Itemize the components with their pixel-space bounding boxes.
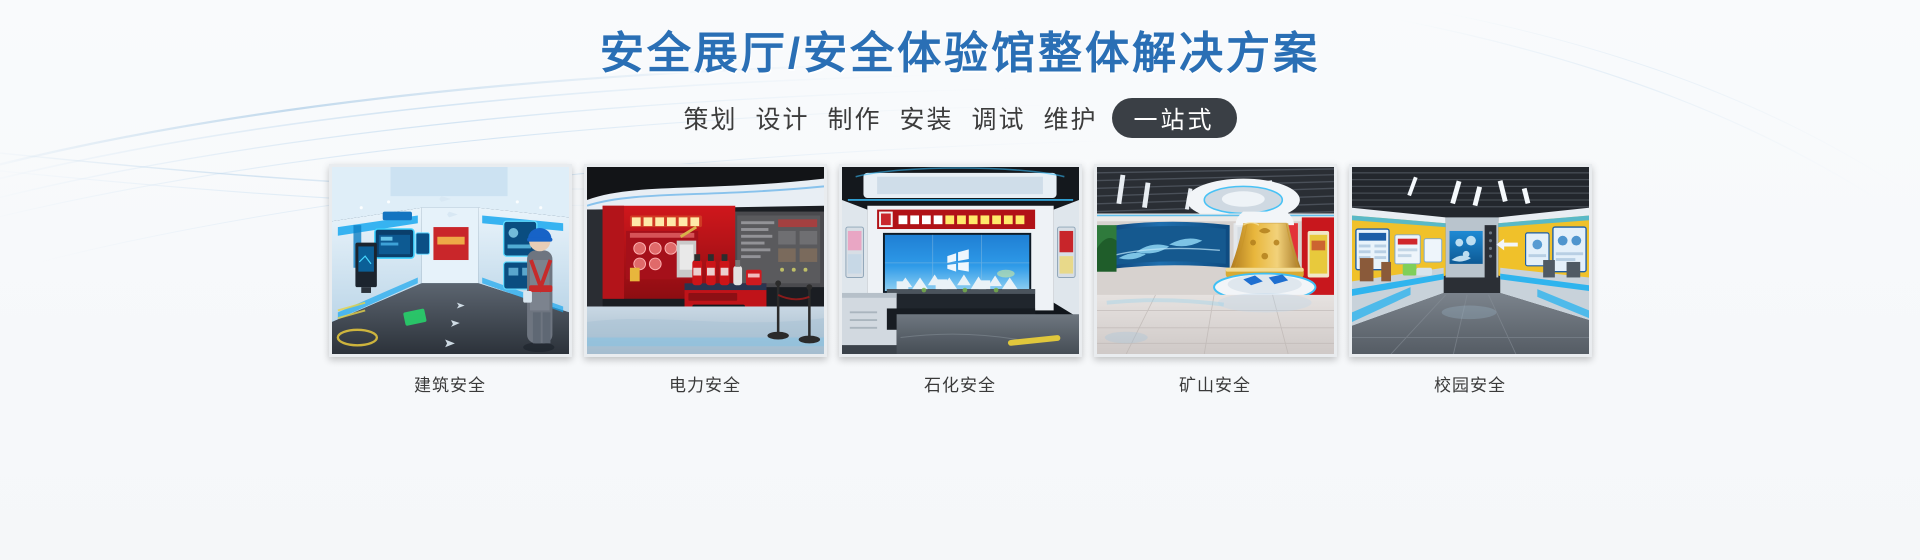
scene-card[interactable]: 校园安全	[1347, 164, 1594, 396]
page-title: 安全展厅/安全体验馆整体解决方案	[600, 28, 1320, 80]
one-stop-badge: 一站式	[1112, 98, 1237, 138]
campus-safety-corridor-yellow-walls-image	[1352, 167, 1589, 354]
fire-emergency-equipment-red-exhibit-image	[587, 167, 824, 354]
scene-card-caption: 矿山安全	[1179, 371, 1251, 396]
scene-card[interactable]: 电力安全	[582, 164, 829, 396]
service-steps-list: 策划 设计 制作 安装 调试 维护	[683, 100, 1097, 136]
scene-card-caption: 石化安全	[924, 371, 996, 396]
mining-safety-hall-golden-bell-image	[1097, 167, 1334, 354]
scene-card[interactable]: 建筑安全	[327, 164, 574, 396]
scene-thumbnail-campus[interactable]	[1349, 164, 1592, 357]
petrochemical-training-base-video-wall-image	[842, 167, 1079, 354]
service-steps-row: 策划 设计 制作 安装 调试 维护 一站式	[683, 98, 1236, 138]
scene-card-caption: 电力安全	[669, 371, 741, 396]
service-step-4: 安装	[900, 100, 954, 136]
scene-card[interactable]: 矿山安全	[1092, 164, 1339, 396]
scene-card-caption: 校园安全	[1434, 371, 1506, 396]
construction-safety-exhibition-corridor-image	[332, 167, 569, 354]
service-step-3: 制作	[827, 100, 881, 136]
promo-banner: 安全展厅/安全体验馆整体解决方案 策划 设计 制作 安装 调试 维护 一站式	[0, 0, 1920, 560]
service-step-5: 调试	[972, 100, 1026, 136]
scene-thumbnail-power[interactable]	[584, 164, 827, 357]
service-step-1: 策划	[683, 100, 737, 136]
scene-thumbnail-petrochemical[interactable]	[839, 164, 1082, 357]
scene-card[interactable]: 石化安全	[837, 164, 1084, 396]
banner-content: 安全展厅/安全体验馆整体解决方案 策划 设计 制作 安装 调试 维护 一站式	[0, 0, 1920, 560]
scene-thumbnail-mining[interactable]	[1094, 164, 1337, 357]
service-step-2: 设计	[755, 100, 809, 136]
scene-card-caption: 建筑安全	[414, 371, 486, 396]
scene-thumbnail-construction[interactable]	[329, 164, 572, 357]
service-step-6: 维护	[1044, 100, 1098, 136]
scene-card-list: 建筑安全	[327, 164, 1594, 396]
